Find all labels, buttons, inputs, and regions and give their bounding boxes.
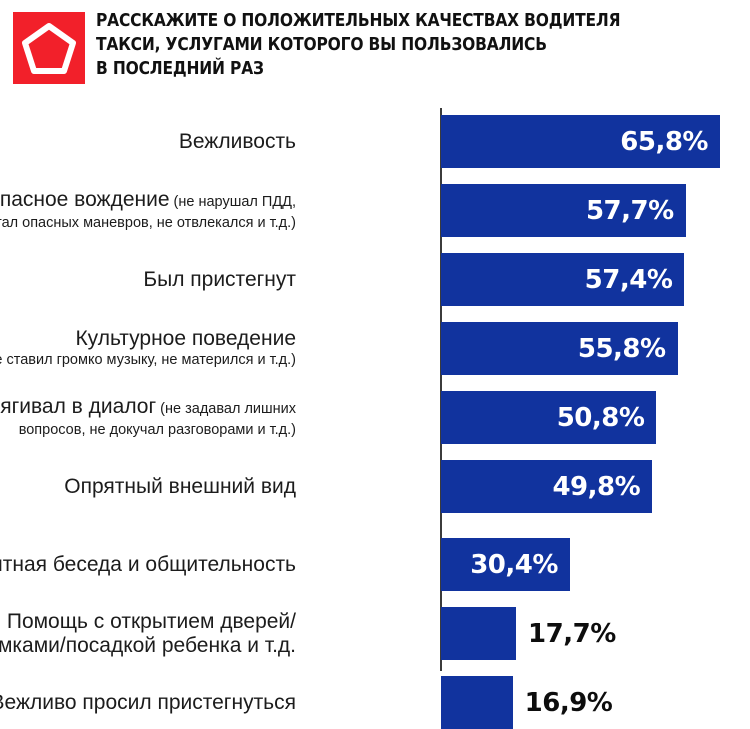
category-label: Вежливость	[0, 115, 310, 168]
bar-row: Безопасное вождение (не нарушал ПДД,избе…	[0, 184, 750, 237]
category-label: Приятная беседа и общительность	[0, 538, 310, 591]
bar-chart: Вежливость65,8%Безопасное вождение (не н…	[0, 100, 750, 725]
category-label-main-line2: с сумками/посадкой ребенка и т.д.	[0, 634, 296, 658]
page-title: РАССКАЖИТЕ О ПОЛОЖИТЕЛЬНЫХ КАЧЕСТВАХ ВОД…	[96, 9, 664, 81]
bar-value-label: 16,9%	[525, 676, 613, 729]
category-label-main: Опрятный внешний вид	[64, 474, 296, 499]
bar-row: Приятная беседа и общительность30,4%	[0, 538, 750, 591]
bar-value-label: 17,7%	[528, 607, 616, 660]
bar: 16,9%	[441, 676, 513, 729]
bar: 57,4%	[441, 253, 684, 306]
category-label: Культурное поведение(не ставил громко му…	[0, 322, 310, 375]
bar: 57,7%	[441, 184, 686, 237]
category-label: Вежливо просил пристегнуться	[0, 676, 310, 729]
category-label-note-inline: (не нарушал ПДД,	[170, 194, 296, 210]
category-label-main: Не втягивал в диалог (не задавал лишних	[0, 395, 296, 421]
category-label-note: вопросов, не докучал разговорами и т.д.)	[19, 421, 296, 440]
category-label-main: Вежливость	[179, 129, 296, 154]
bar: 49,8%	[441, 460, 652, 513]
category-label-main: Культурное поведение	[75, 327, 296, 351]
category-label-main: Безопасное вождение (не нарушал ПДД,	[0, 188, 296, 214]
bar: 30,4%	[441, 538, 570, 591]
bar-value-label: 30,4%	[470, 538, 558, 591]
category-label: Безопасное вождение (не нарушал ПДД,избе…	[0, 184, 310, 237]
category-label: Помощь с открытием дверей/с сумками/поса…	[0, 607, 310, 660]
bar-row: Вежливость65,8%	[0, 115, 750, 168]
bar: 55,8%	[441, 322, 678, 375]
category-label: Опрятный внешний вид	[0, 460, 310, 513]
bar-value-label: 49,8%	[552, 460, 640, 513]
bar-value-label: 55,8%	[578, 322, 666, 375]
category-label-main: Приятная беседа и общительность	[0, 552, 296, 577]
bar: 65,8%	[441, 115, 720, 168]
bar-value-label: 57,4%	[585, 253, 673, 306]
category-label: Не втягивал в диалог (не задавал лишнихв…	[0, 391, 310, 444]
bar: 17,7%	[441, 607, 516, 660]
category-label: Был пристегнут	[0, 253, 310, 306]
category-label-main: Вежливо просил пристегнуться	[0, 690, 296, 715]
bar: 50,8%	[441, 391, 656, 444]
bar-value-label: 50,8%	[557, 391, 645, 444]
category-label-note: (не ставил громко музыку, не матерился и…	[0, 351, 296, 370]
bar-row: Помощь с открытием дверей/с сумками/поса…	[0, 607, 750, 660]
bar-row: Не втягивал в диалог (не задавал лишнихв…	[0, 391, 750, 444]
category-label-main: Помощь с открытием дверей/	[7, 610, 296, 634]
category-label-note-inline: (не задавал лишних	[156, 401, 296, 417]
pentagon-logo	[13, 12, 85, 84]
bar-row: Был пристегнут57,4%	[0, 253, 750, 306]
category-label-note: избегал опасных маневров, не отвлекался …	[0, 214, 296, 233]
bar-value-label: 65,8%	[620, 115, 708, 168]
bar-row: Культурное поведение(не ставил громко му…	[0, 322, 750, 375]
bar-value-label: 57,7%	[586, 184, 674, 237]
bar-row: Вежливо просил пристегнуться16,9%	[0, 676, 750, 729]
header: РАССКАЖИТЕ О ПОЛОЖИТЕЛЬНЫХ КАЧЕСТВАХ ВОД…	[0, 0, 750, 100]
bar-row: Опрятный внешний вид49,8%	[0, 460, 750, 513]
category-label-main: Был пристегнут	[143, 267, 296, 292]
